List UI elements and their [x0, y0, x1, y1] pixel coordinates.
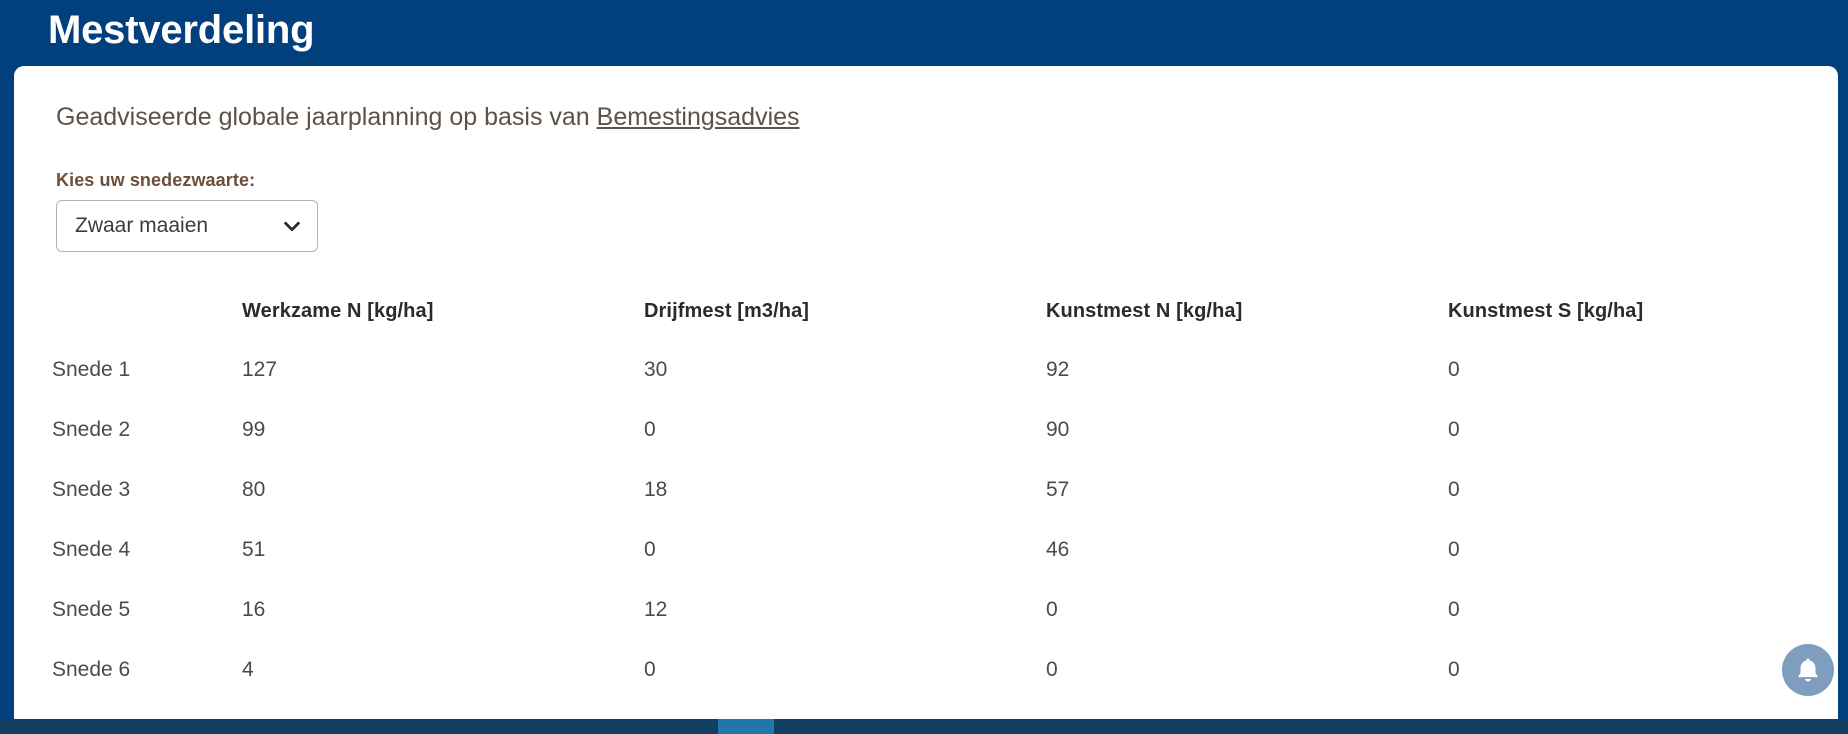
snedezwaarte-label: Kies uw snedezwaarte: — [56, 170, 1838, 191]
column-header-row-label — [52, 282, 242, 340]
cell-kunstmest-n: 92 — [1046, 340, 1448, 400]
table-body: Snede 1 127 30 92 0 Snede 2 99 0 90 0 Sn… — [52, 340, 1838, 700]
column-header-kunstmest-n: Kunstmest N [kg/ha] — [1046, 282, 1448, 340]
notification-bell-button[interactable] — [1782, 644, 1834, 696]
cell-drijfmest: 30 — [644, 340, 1046, 400]
snedezwaarte-selected-value: Zwaar maaien — [75, 214, 281, 238]
table-row: Snede 6 4 0 0 0 — [52, 640, 1838, 700]
content-card: Geadviseerde globale jaarplanning op bas… — [14, 66, 1838, 719]
cell-drijfmest: 12 — [644, 580, 1046, 640]
app-header: Mestverdeling — [0, 0, 1848, 66]
cell-werkzame-n: 51 — [242, 520, 644, 580]
card-inner: Geadviseerde globale jaarplanning op bas… — [14, 66, 1838, 700]
row-label: Snede 5 — [52, 580, 242, 640]
cell-kunstmest-s: 0 — [1448, 640, 1838, 700]
table-row: Snede 3 80 18 57 0 — [52, 460, 1838, 520]
cell-werkzame-n: 4 — [242, 640, 644, 700]
subtitle-text: Geadviseerde globale jaarplanning op bas… — [56, 103, 597, 131]
bemestingsadvies-link[interactable]: Bemestingsadvies — [597, 103, 800, 131]
mestverdeling-table: Werkzame N [kg/ha] Drijfmest [m3/ha] Kun… — [52, 282, 1838, 700]
snedezwaarte-select[interactable]: Zwaar maaien — [56, 200, 318, 252]
row-label: Snede 4 — [52, 520, 242, 580]
page-title: Mestverdeling — [48, 10, 314, 56]
cell-kunstmest-s: 0 — [1448, 340, 1838, 400]
cell-drijfmest: 0 — [644, 400, 1046, 460]
right-background-strip — [1838, 66, 1848, 719]
cell-kunstmest-s: 0 — [1448, 400, 1838, 460]
bell-icon — [1793, 655, 1823, 685]
chevron-down-icon — [281, 215, 303, 237]
table-row: Snede 2 99 0 90 0 — [52, 400, 1838, 460]
table-row: Snede 4 51 0 46 0 — [52, 520, 1838, 580]
cell-kunstmest-n: 0 — [1046, 580, 1448, 640]
left-background-strip — [0, 66, 14, 719]
column-header-drijfmest: Drijfmest [m3/ha] — [644, 282, 1046, 340]
cell-werkzame-n: 127 — [242, 340, 644, 400]
cell-werkzame-n: 16 — [242, 580, 644, 640]
table-header-row: Werkzame N [kg/ha] Drijfmest [m3/ha] Kun… — [52, 282, 1838, 340]
cell-kunstmest-s: 0 — [1448, 580, 1838, 640]
row-label: Snede 6 — [52, 640, 242, 700]
cell-kunstmest-s: 0 — [1448, 520, 1838, 580]
column-header-kunstmest-s: Kunstmest S [kg/ha] — [1448, 282, 1838, 340]
cell-kunstmest-n: 57 — [1046, 460, 1448, 520]
cell-werkzame-n: 80 — [242, 460, 644, 520]
horizontal-scrollbar-thumb[interactable] — [718, 719, 774, 734]
table-row: Snede 1 127 30 92 0 — [52, 340, 1838, 400]
cell-kunstmest-n: 46 — [1046, 520, 1448, 580]
table-row: Snede 5 16 12 0 0 — [52, 580, 1838, 640]
row-label: Snede 2 — [52, 400, 242, 460]
cell-drijfmest: 0 — [644, 520, 1046, 580]
cell-drijfmest: 18 — [644, 460, 1046, 520]
table-header: Werkzame N [kg/ha] Drijfmest [m3/ha] Kun… — [52, 282, 1838, 340]
cell-kunstmest-n: 90 — [1046, 400, 1448, 460]
row-label: Snede 3 — [52, 460, 242, 520]
cell-drijfmest: 0 — [644, 640, 1046, 700]
column-header-werkzame-n: Werkzame N [kg/ha] — [242, 282, 644, 340]
subtitle: Geadviseerde globale jaarplanning op bas… — [56, 102, 1838, 132]
cell-werkzame-n: 99 — [242, 400, 644, 460]
cell-kunstmest-n: 0 — [1046, 640, 1448, 700]
snedezwaarte-field: Kies uw snedezwaarte: Zwaar maaien — [56, 170, 1838, 252]
row-label: Snede 1 — [52, 340, 242, 400]
horizontal-scrollbar-track[interactable] — [0, 719, 1848, 734]
cell-kunstmest-s: 0 — [1448, 460, 1838, 520]
